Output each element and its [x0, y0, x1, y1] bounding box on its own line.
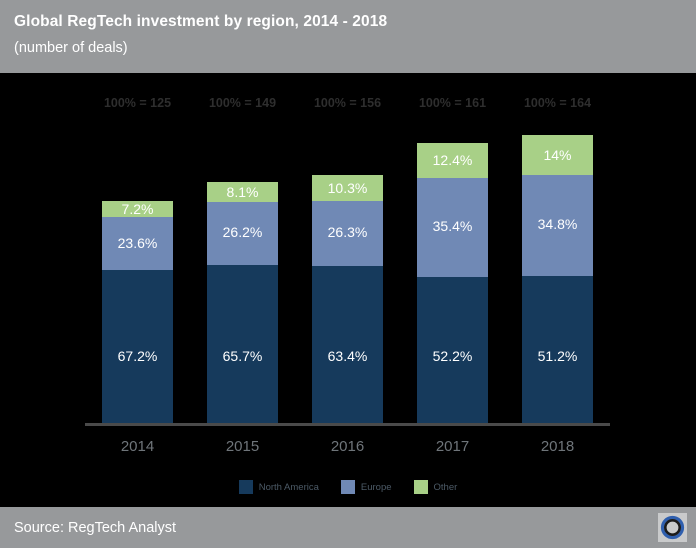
stacked-bar-2018[interactable]: 14% 34.8% 51.2% [522, 135, 593, 423]
chart-legend: North America Europe Other [0, 476, 696, 498]
chart-canvas: 100% = 125 100% = 149 100% = 156 100% = … [0, 73, 696, 501]
x-axis-label-2015: 2015 [190, 435, 295, 459]
bar-segment-europe-2016[interactable]: 26.3% [312, 201, 383, 266]
source-label: Source: RegTech Analyst [14, 520, 176, 536]
bar-segment-north-america-2017[interactable]: 52.2% [417, 277, 488, 423]
bar-segment-other-2017[interactable]: 12.4% [417, 143, 488, 178]
totals-row: 100% = 125 100% = 149 100% = 156 100% = … [85, 93, 610, 113]
bar-slot-2015: 8.1% 26.2% 65.7% [190, 118, 295, 423]
x-axis-label-2014: 2014 [85, 435, 190, 459]
bar-segment-other-2015[interactable]: 8.1% [207, 182, 278, 202]
total-label-2017: 100% = 161 [400, 93, 505, 113]
chart-header: Global RegTech investment by region, 201… [0, 0, 696, 73]
legend-item-north-america[interactable]: North America [239, 480, 319, 494]
stacked-bar-2017[interactable]: 12.4% 35.4% 52.2% [417, 143, 488, 423]
x-axis-labels: 2014 2015 2016 2017 2018 [85, 435, 610, 459]
bar-segment-north-america-2015[interactable]: 65.7% [207, 265, 278, 423]
bar-segment-europe-2015[interactable]: 26.2% [207, 202, 278, 265]
legend-swatch-other [414, 480, 428, 494]
x-axis-line [85, 423, 610, 426]
bar-segment-north-america-2018[interactable]: 51.2% [522, 276, 593, 423]
legend-label-north-america: North America [259, 482, 319, 493]
x-axis-label-2018: 2018 [505, 435, 610, 459]
stacked-bar-2015[interactable]: 8.1% 26.2% 65.7% [207, 182, 278, 423]
legend-label-europe: Europe [361, 482, 392, 493]
bar-slot-2014: 7.2% 23.6% 67.2% [85, 118, 190, 423]
stacked-bar-2014[interactable]: 7.2% 23.6% 67.2% [102, 196, 173, 423]
page-title: Global RegTech investment by region, 201… [14, 11, 696, 33]
legend-item-other[interactable]: Other [414, 480, 458, 494]
page-subtitle: (number of deals) [14, 37, 696, 59]
circle-ring-logo-icon [658, 513, 687, 542]
legend-item-europe[interactable]: Europe [341, 480, 392, 494]
total-label-2016: 100% = 156 [295, 93, 400, 113]
total-label-2014: 100% = 125 [85, 93, 190, 113]
bar-segment-other-2016[interactable]: 10.3% [312, 175, 383, 201]
total-label-2018: 100% = 164 [505, 93, 610, 113]
legend-swatch-europe [341, 480, 355, 494]
stacked-bar-2016[interactable]: 10.3% 26.3% 63.4% [312, 175, 383, 423]
bar-segment-north-america-2016[interactable]: 63.4% [312, 266, 383, 423]
legend-swatch-north-america [239, 480, 253, 494]
legend-label-other: Other [434, 482, 458, 493]
bar-slot-2018: 14% 34.8% 51.2% [505, 118, 610, 423]
bar-segment-europe-2018[interactable]: 34.8% [522, 175, 593, 275]
bar-segment-other-2014[interactable]: 7.2% [102, 201, 173, 217]
bar-slot-2017: 12.4% 35.4% 52.2% [400, 118, 505, 423]
total-label-2015: 100% = 149 [190, 93, 295, 113]
bar-segment-other-2018[interactable]: 14% [522, 135, 593, 175]
chart-footer: Source: RegTech Analyst [0, 507, 696, 548]
plot-region: 7.2% 23.6% 67.2% 8.1% 26.2% 65.7% 10.3% … [85, 118, 610, 423]
x-axis-label-2016: 2016 [295, 435, 400, 459]
bar-slot-2016: 10.3% 26.3% 63.4% [295, 118, 400, 423]
bar-segment-europe-2017[interactable]: 35.4% [417, 178, 488, 277]
bar-segment-europe-2014[interactable]: 23.6% [102, 217, 173, 271]
x-axis-label-2017: 2017 [400, 435, 505, 459]
bar-segment-north-america-2014[interactable]: 67.2% [102, 270, 173, 423]
